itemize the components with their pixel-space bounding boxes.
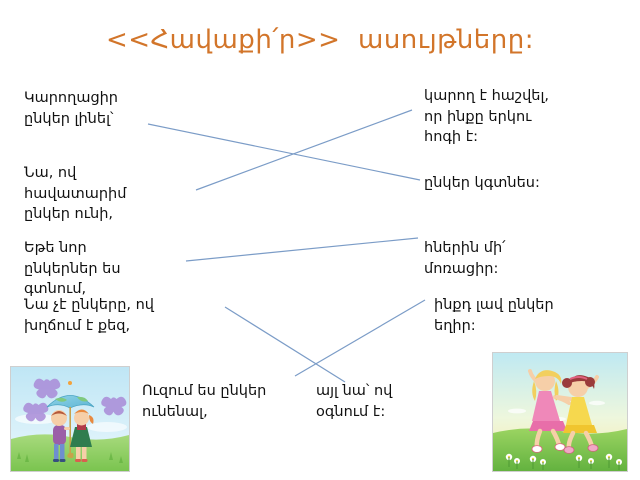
two-girls-jumping-illustration	[493, 353, 627, 471]
picture-children-globe-umbrella	[10, 366, 130, 472]
phrase-right-1[interactable]: կարող է հաշվել, որ ինքը երկու հոգի է:	[424, 86, 634, 148]
phrase-left-4[interactable]: Նա չէ ընկերը, ով խղճում է քեզ,	[24, 295, 229, 336]
phrase-right-3[interactable]: հներին մի՛ մոռացիր:	[424, 238, 634, 279]
phrase-bottom-1[interactable]: Ուզում ես ընկեր ունենալ,	[142, 381, 312, 422]
picture-two-girls-jumping	[492, 352, 628, 472]
children-globe-umbrella-illustration	[11, 367, 129, 471]
phrase-bottom-2[interactable]: այլ նա՝ ով օգնում է:	[316, 381, 466, 422]
phrase-left-1[interactable]: Կարողացիր ընկեր լինել՝	[24, 88, 229, 129]
phrase-right-4[interactable]: ինքդ լավ ընկեր եղիր:	[434, 295, 634, 336]
phrase-left-3[interactable]: Եթե նոր ընկերներ ես գտնում,	[24, 238, 229, 300]
page-title: <<Հավաքի՛ր>> ասույթները:	[0, 26, 640, 55]
connector-line-4	[225, 307, 345, 382]
connector-line-5	[295, 300, 425, 376]
phrase-left-2[interactable]: Նա, ով հավատարիմ ընկեր ունի,	[24, 163, 229, 225]
phrase-right-2[interactable]: ընկեր կգտնես:	[424, 173, 634, 194]
